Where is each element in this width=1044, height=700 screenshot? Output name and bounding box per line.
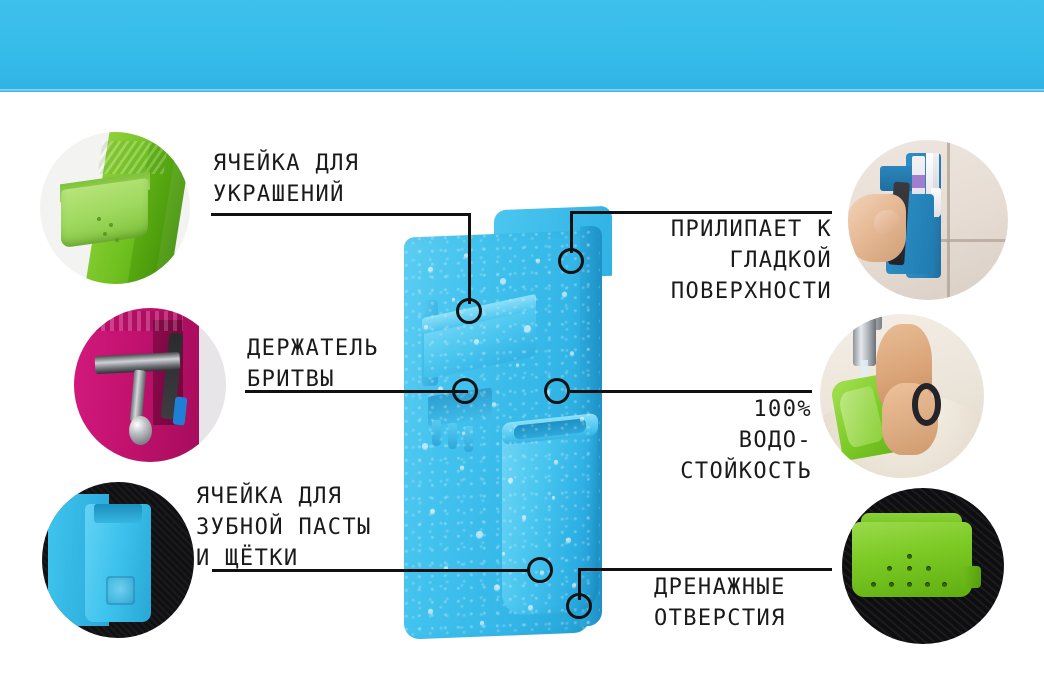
callout-line: ПОВЕРХНОСТИ: [562, 276, 832, 307]
callout-line: УКРАШЕНИЙ: [213, 179, 359, 210]
callout-label-waterproof: 100% ВОДО- СТОЙКОСТЬ: [592, 394, 812, 487]
callout-rule-toothpaste-and-brush-cell: [212, 569, 529, 572]
callout-marker-waterproof: [544, 378, 570, 404]
callout-line: ЯЧЕЙКА ДЛЯ: [196, 481, 372, 512]
callout-marker-drainage-holes: [566, 593, 592, 619]
callout-rule-jewelry-cell: [211, 213, 471, 216]
banner-bottom-edge: [0, 89, 1044, 92]
callout-label-jewelry-cell: ЯЧЕЙКА ДЛЯ УКРАШЕНИЙ: [213, 148, 359, 210]
callout-line: ПРИЛИПАЕТ К: [562, 214, 832, 245]
callout-rule-razor-holder: [245, 390, 468, 393]
callout-line: ДЕРЖАТЕЛЬ: [247, 333, 379, 364]
callout-line: ЯЧЕЙКА ДЛЯ: [213, 148, 359, 179]
photo-hand-taking-razor: [848, 140, 1008, 300]
callout-label-drainage-holes: ДРЕНАЖНЫЕ ОТВЕРСТИЯ: [654, 572, 786, 634]
photo-green-shelf-closeup: [40, 132, 190, 284]
callout-line: ДРЕНАЖНЫЕ: [654, 572, 786, 603]
callout-rule-drainage-holes: [578, 568, 832, 571]
photo-pink-razor-holder: [74, 308, 226, 462]
top-accent-banner: [0, 0, 1044, 92]
callout-rule-waterproof: [570, 390, 812, 393]
photo-washing-under-tap: [820, 314, 984, 478]
callout-label-sticks-to-smooth-surface: ПРИЛИПАЕТ К ГЛАДКОЙ ПОВЕРХНОСТИ: [562, 214, 832, 307]
callout-leader-jewelry-cell: [468, 213, 471, 304]
callout-line: 100%: [592, 394, 812, 425]
callout-marker-jewelry-cell: [456, 298, 482, 324]
callout-line: СТОЙКОСТЬ: [592, 456, 812, 487]
callout-marker-toothpaste-and-brush-cell: [527, 557, 553, 583]
callout-marker-razor-holder: [452, 378, 478, 404]
callout-label-toothpaste-and-brush-cell: ЯЧЕЙКА ДЛЯ ЗУБНОЙ ПАСТЫ И ЩЁТКИ: [196, 481, 372, 574]
photo-blue-pocket-closeup: [42, 482, 194, 638]
callout-line: ГЛАДКОЙ: [562, 245, 832, 276]
photo-green-drainage-holes: [842, 488, 1004, 644]
infographic-canvas: ЯЧЕЙКА ДЛЯ УКРАШЕНИЙ ПРИЛИПАЕТ К ГЛАДКОЙ…: [0, 0, 1044, 700]
callout-label-razor-holder: ДЕРЖАТЕЛЬ БРИТВЫ: [247, 333, 379, 395]
callout-line: ЗУБНОЙ ПАСТЫ: [196, 512, 372, 543]
callout-line: ОТВЕРСТИЯ: [654, 603, 786, 634]
banner-gradient: [0, 0, 1044, 92]
callout-line: ВОДО-: [592, 425, 812, 456]
